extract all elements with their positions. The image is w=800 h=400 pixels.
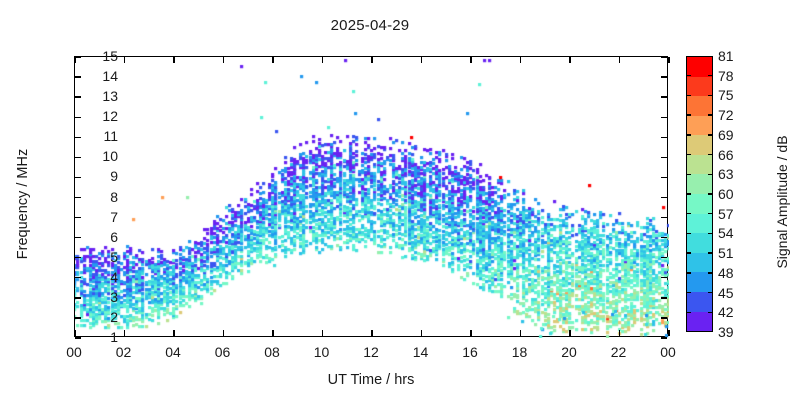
colorbar-tick-label: 48 [718,265,748,281]
x-tick-mark [470,330,471,336]
x-tick-mark-top [223,57,224,63]
x-tick-mark [668,330,669,336]
x-tick-mark-top [173,57,174,63]
colorbar-tick-mark-right [708,252,713,253]
colorbar-tick-label: 42 [718,304,748,320]
x-tick-mark [371,330,372,336]
x-tick-label: 08 [252,344,292,360]
x-tick-mark-top [470,57,471,63]
y-tick-mark-right [661,277,667,278]
x-tick-mark [272,330,273,336]
y-tick-label: 2 [78,309,118,325]
y-tick-label: 13 [78,88,118,104]
colorbar-band [687,135,712,155]
colorbar-tick-label: 69 [718,127,748,143]
colorbar-tick-label: 57 [718,206,748,222]
colorbar-band [687,77,712,97]
x-tick-label: 22 [599,344,639,360]
x-tick-label: 18 [500,344,540,360]
colorbar-tick-mark [686,252,691,253]
colorbar-band [687,214,712,234]
x-axis-title: UT Time / hrs [74,372,668,388]
y-tick-label: 11 [78,128,118,144]
x-tick-mark-top [421,57,422,63]
y-tick-label: 12 [78,108,118,124]
x-tick-mark-top [272,57,273,63]
y-tick-mark-right [661,157,667,158]
y-tick-mark-right [661,197,667,198]
y-tick-mark-right [661,56,667,57]
colorbar-tick-mark-right [708,95,713,96]
colorbar-tick-label: 75 [718,87,748,103]
x-tick-mark [223,330,224,336]
y-tick-label: 15 [78,48,118,64]
y-tick-mark-right [661,337,667,338]
x-tick-mark [569,330,570,336]
colorbar-band [687,272,712,292]
x-tick-label: 12 [351,344,391,360]
colorbar-tick-mark-right [708,75,713,76]
colorbar-tick-mark [686,95,691,96]
colorbar-tick-mark-right [708,233,713,234]
x-tick-label: 16 [450,344,490,360]
y-tick-mark-right [661,217,667,218]
colorbar-tick-mark [686,292,691,293]
y-tick-label: 7 [78,209,118,225]
colorbar-tick-mark [686,312,691,313]
y-tick-mark-right [661,257,667,258]
colorbar-band [687,174,712,194]
y-tick-mark-right [661,297,667,298]
x-tick-label: 06 [203,344,243,360]
x-tick-mark [619,330,620,336]
y-tick-label: 8 [78,189,118,205]
colorbar-tick-mark [686,154,691,155]
plot-area [74,56,668,337]
colorbar-band [687,57,712,77]
colorbar-band [687,312,712,332]
colorbar-tick-mark-right [708,114,713,115]
colorbar-tick-mark [686,272,691,273]
colorbar-tick-mark [686,75,691,76]
colorbar-band [687,155,712,175]
colorbar-band [687,292,712,312]
x-tick-mark [322,330,323,336]
colorbar-band [687,233,712,253]
x-tick-mark-top [322,57,323,63]
y-tick-label: 10 [78,148,118,164]
x-tick-label: 00 [54,344,94,360]
x-tick-mark [421,330,422,336]
colorbar-tick-label: 63 [718,166,748,182]
x-tick-mark-top [569,57,570,63]
colorbar-tick-mark [686,233,691,234]
colorbar-tick-mark [686,213,691,214]
x-tick-mark-top [520,57,521,63]
colorbar-tick-mark-right [708,292,713,293]
colorbar-tick-label: 51 [718,245,748,261]
y-tick-mark-right [661,96,667,97]
x-tick-mark-top [619,57,620,63]
x-tick-label: 10 [302,344,342,360]
x-tick-mark-top [124,57,125,63]
chart-page: 2025-04-29 Frequency / MHz UT Time / hrs… [0,0,800,400]
colorbar-tick-mark-right [708,312,713,313]
y-axis-title: Frequency / MHz [15,104,31,304]
y-tick-label: 3 [78,289,118,305]
y-tick-mark-right [661,137,667,138]
colorbar-tick-mark-right [708,213,713,214]
x-tick-label: 04 [153,344,193,360]
y-tick-mark-right [661,76,667,77]
colorbar-tick-mark-right [708,154,713,155]
y-tick-label: 1 [78,329,118,345]
colorbar-band [687,116,712,136]
colorbar-tick-label: 81 [718,48,748,64]
x-tick-label: 20 [549,344,589,360]
colorbar-tick-label: 54 [718,225,748,241]
colorbar-title: Signal Amplitude / dB [774,92,790,312]
x-tick-mark-top [668,57,669,63]
colorbar-tick-label: 60 [718,186,748,202]
x-tick-label: 00 [648,344,688,360]
colorbar-tick-mark [686,114,691,115]
x-tick-label: 14 [401,344,441,360]
colorbar-tick-mark [686,193,691,194]
colorbar-tick-label: 39 [718,324,748,340]
page-title: 2025-04-29 [0,17,740,34]
y-tick-mark-right [661,177,667,178]
x-tick-mark-top [74,57,75,63]
colorbar-band [687,253,712,273]
colorbar-tick-label: 78 [718,68,748,84]
colorbar-tick-label: 45 [718,285,748,301]
y-tick-label: 4 [78,269,118,285]
colorbar-band [687,194,712,214]
y-tick-mark-right [661,117,667,118]
colorbar-tick-mark [686,174,691,175]
y-tick-mark-right [661,237,667,238]
colorbar-tick-mark-right [708,193,713,194]
y-tick-label: 14 [78,68,118,84]
y-tick-label: 5 [78,249,118,265]
colorbar-tick-mark-right [708,134,713,135]
x-tick-mark-top [371,57,372,63]
colorbar-tick-mark-right [708,174,713,175]
scatter-plot-canvas [75,57,669,338]
colorbar-tick-mark-right [708,272,713,273]
colorbar-tick-label: 72 [718,107,748,123]
x-tick-mark [173,330,174,336]
x-tick-mark [124,330,125,336]
y-tick-label: 6 [78,229,118,245]
x-tick-label: 02 [104,344,144,360]
colorbar-tick-label: 66 [718,147,748,163]
x-tick-mark [74,330,75,336]
y-tick-mark-right [661,317,667,318]
y-tick-label: 9 [78,168,118,184]
colorbar-tick-mark [686,134,691,135]
x-tick-mark [520,330,521,336]
colorbar-band [687,96,712,116]
